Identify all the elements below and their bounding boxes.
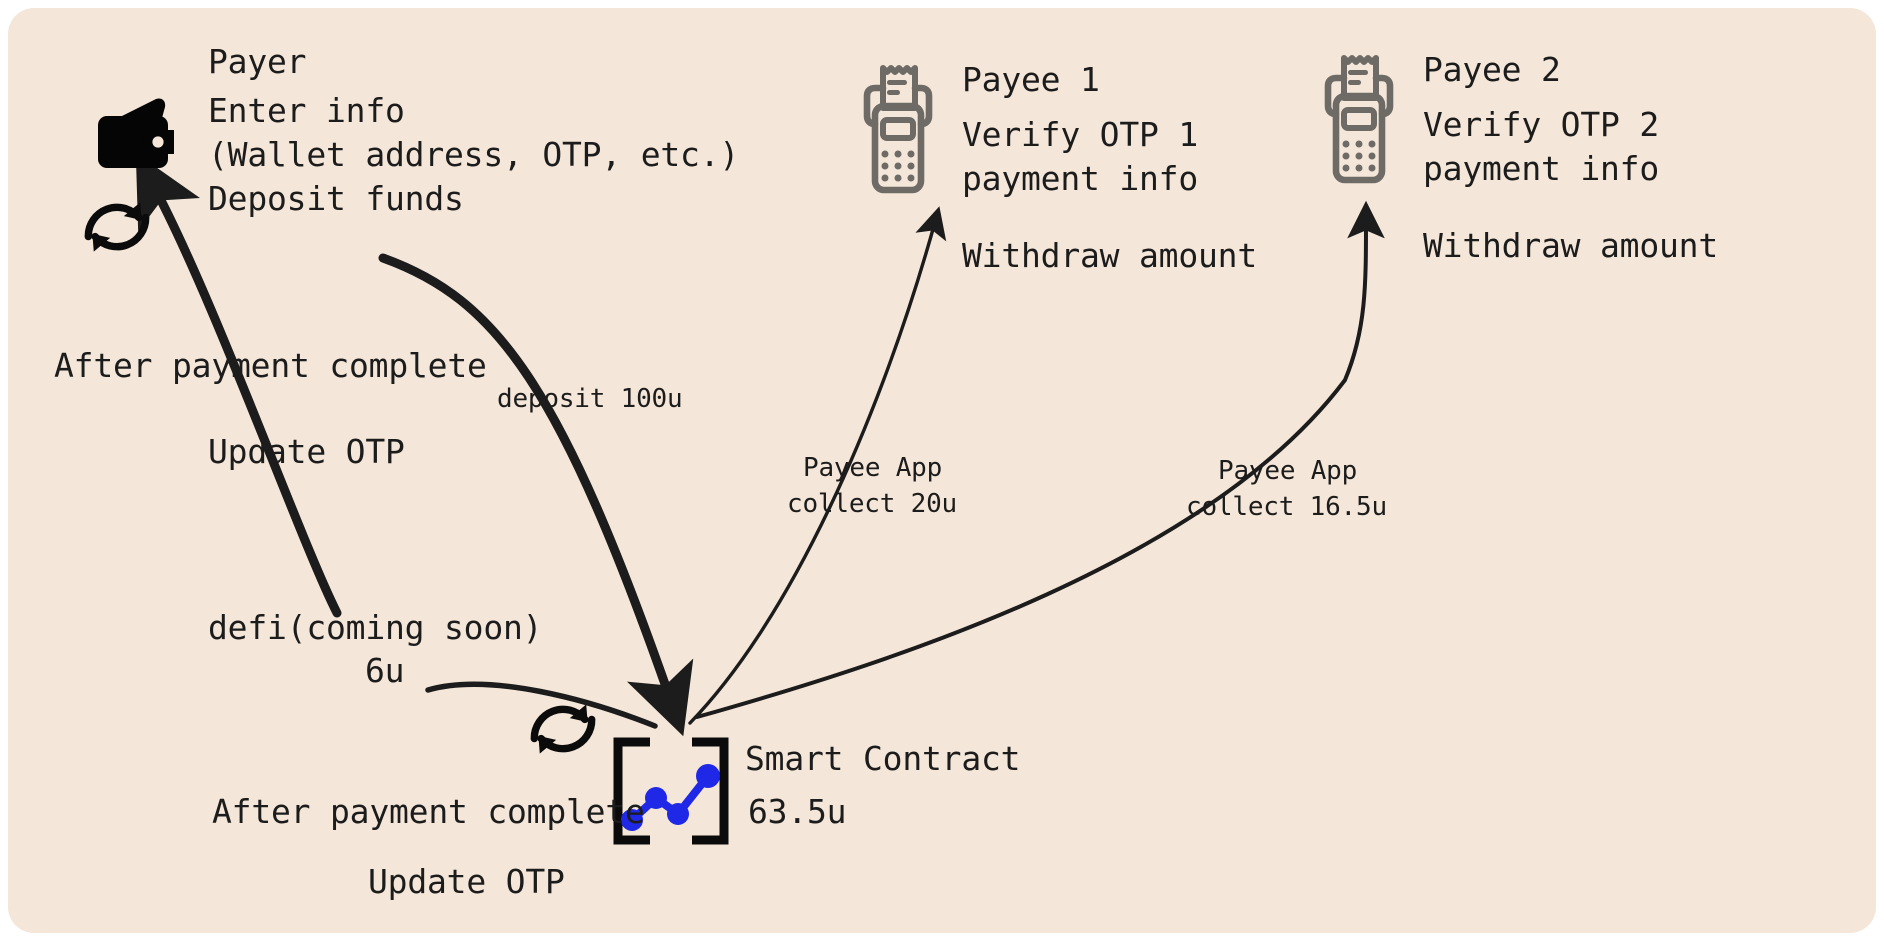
diagram-canvas: Payer Enter info (Wallet address, OTP, e…	[0, 0, 1884, 941]
payer-line-1: Enter info	[208, 90, 405, 132]
payer-title: Payer	[208, 41, 306, 83]
payee1-terminal-icon-wrap	[861, 62, 935, 198]
payee2-edge-label-2: collect 16.5u	[1186, 491, 1387, 524]
payee2-action: Withdraw amount	[1423, 225, 1718, 267]
payer-cycle-line-2: Update OTP	[208, 431, 405, 473]
payee1-edge-label-2: collect 20u	[787, 488, 957, 521]
contract-refresh-icon-wrap	[522, 688, 604, 770]
pos-terminal-icon	[1322, 52, 1396, 188]
smart-contract-title: Smart Contract	[745, 738, 1020, 780]
payer-refresh-icon-wrap	[76, 186, 158, 268]
smart-contract-balance: 63.5u	[748, 791, 846, 833]
contract-cycle-line-1: After payment complete	[212, 791, 645, 833]
payer-line-2: (Wallet address, OTP, etc.)	[208, 134, 739, 176]
wallet-icon	[96, 96, 182, 176]
payer-cycle-line-1: After payment complete	[54, 345, 487, 387]
refresh-icon	[522, 688, 604, 770]
defi-line-2: 6u	[365, 650, 404, 692]
deposit-label: deposit 100u	[497, 383, 682, 416]
payee1-line-1: Verify OTP 1	[962, 114, 1198, 156]
payee1-action: Withdraw amount	[962, 235, 1257, 277]
payer-line-3: Deposit funds	[208, 178, 464, 220]
payee1-title: Payee 1	[962, 59, 1100, 101]
payee2-line-1: Verify OTP 2	[1423, 104, 1659, 146]
payee2-line-2: payment info	[1423, 148, 1659, 190]
payee2-title: Payee 2	[1423, 49, 1561, 91]
payee1-edge-label-1: Payee App	[803, 452, 942, 485]
refresh-icon	[76, 186, 158, 268]
wallet-icon-wrap	[96, 96, 182, 176]
contract-cycle-line-2: Update OTP	[368, 861, 565, 903]
payee2-terminal-icon-wrap	[1322, 52, 1396, 188]
pos-terminal-icon	[861, 62, 935, 198]
payee2-edge-label-1: Payee App	[1218, 455, 1357, 488]
defi-line-1: defi(coming soon)	[208, 607, 542, 649]
payee1-line-2: payment info	[962, 158, 1198, 200]
